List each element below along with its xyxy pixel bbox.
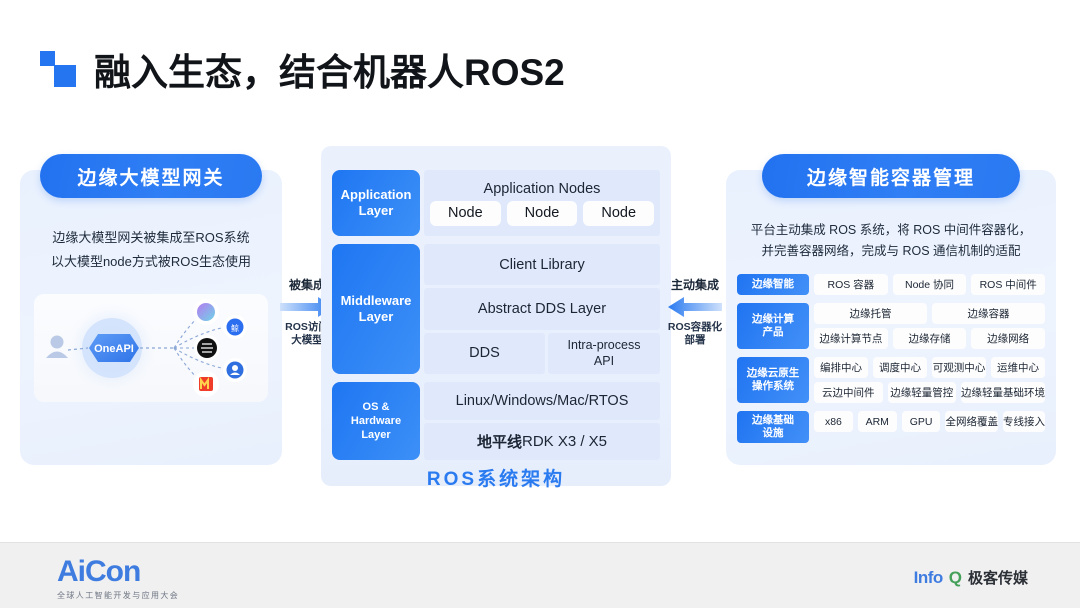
intra-process-line2: API — [594, 354, 614, 368]
application-nodes-box: Application Nodes Node Node Node — [424, 170, 660, 236]
svg-text:鲸: 鲸 — [231, 323, 239, 333]
layer-body-middleware: Client Library Abstract DDS Layer DDS In… — [424, 244, 660, 374]
capability-cell: 边缘网络 — [971, 328, 1045, 349]
capability-cell: 边缘存储 — [893, 328, 967, 349]
layer-body-application: Application Nodes Node Node Node — [424, 170, 660, 236]
middleware-row-split: DDS Intra-process API — [424, 333, 660, 374]
arrow-right-sub-line1: ROS容器化 — [664, 321, 726, 334]
middleware-row-client-library: Client Library — [424, 244, 660, 285]
capability-cell: 全网络覆盖 — [945, 411, 998, 432]
layer-group-os-hardware: OS & Hardware Layer Linux/Windows/Mac/RT… — [332, 382, 660, 460]
application-nodes-header: Application Nodes — [484, 181, 601, 197]
capability-cell: 边缘容器 — [932, 303, 1045, 324]
square-large-icon — [54, 65, 76, 87]
center-panel-ros-architecture: Application Layer Application Nodes Node… — [321, 146, 671, 486]
layer-label-middleware-line1: Middleware — [341, 293, 412, 308]
capability-cell: 边缘计算节点 — [814, 328, 888, 349]
model-logo-5-icon — [193, 371, 219, 397]
page-title: 融入生态，结合机器人ROS2 — [40, 42, 565, 96]
table-row: 边缘计算 产品 边缘托管 边缘容器 边缘计算节点 边缘存储 边缘网络 — [737, 303, 1045, 349]
capability-key-line2: 产品 — [763, 326, 784, 338]
layer-group-application: Application Layer Application Nodes Node… — [332, 170, 660, 236]
layer-label-middleware: Middleware Layer — [332, 244, 420, 374]
square-small-icon — [40, 51, 55, 66]
arrow-right-sub-line2: 部署 — [664, 334, 726, 347]
model-logo-3-icon — [194, 335, 220, 361]
left-panel: 边缘大模型网关 边缘大模型网关被集成至ROS系统 以大模型node方式被ROS生… — [20, 170, 282, 465]
capability-key-edge-compute-products: 边缘计算 产品 — [737, 303, 809, 349]
application-nodes-list: Node Node Node — [430, 201, 654, 226]
capability-cell: 可观测中心 — [932, 357, 986, 378]
table-row: 边缘基础 设施 x86 ARM GPU 全网络覆盖 专线接入 — [737, 411, 1045, 443]
model-logo-1-icon — [193, 299, 219, 325]
right-panel-description: 平台主动集成 ROS 系统，将 ROS 中间件容器化， 并完善容器网络，完成与 … — [738, 220, 1044, 262]
arrow-right-caption: 主动集成 — [664, 278, 726, 293]
oneapi-diagram: OneAPI 鲸 — [34, 294, 268, 402]
capability-line: 边缘托管 边缘容器 — [814, 303, 1045, 324]
node-chip: Node — [583, 201, 654, 226]
capability-cell: 调度中心 — [873, 357, 927, 378]
arrow-left-icon — [664, 296, 726, 318]
capability-cell: Node 协同 — [893, 274, 967, 295]
capability-cell: 专线接入 — [1003, 411, 1045, 432]
capability-cell: ROS 中间件 — [971, 274, 1045, 295]
capability-cell: 边缘轻量基础环境 — [961, 382, 1045, 403]
middleware-row-abstract-dds: Abstract DDS Layer — [424, 288, 660, 329]
infoq-info-text: Info — [914, 568, 943, 588]
capability-line: 云边中间件 边缘轻量管控 边缘轻量基础环境 — [814, 382, 1045, 403]
svg-text:OneAPI: OneAPI — [94, 343, 134, 355]
user-icon — [46, 336, 68, 359]
layer-label-os-hardware: OS & Hardware Layer — [332, 382, 420, 460]
intra-process-line1: Intra-process — [568, 338, 641, 352]
right-panel: 边缘智能容器管理 平台主动集成 ROS 系统，将 ROS 中间件容器化， 并完善… — [726, 170, 1056, 465]
oneapi-diagram-svg: OneAPI 鲸 — [34, 294, 268, 402]
infoq-q-text: Q — [949, 568, 962, 588]
capability-cell: 云边中间件 — [814, 382, 883, 403]
capability-cell: GPU — [902, 411, 941, 432]
capability-line: x86 ARM GPU 全网络覆盖 专线接入 — [814, 411, 1045, 432]
layer-label-application-line1: Application — [341, 187, 412, 202]
left-panel-description-line2: 以大模型node方式被ROS生态使用 — [34, 250, 268, 274]
footer-bar: AiCon 全球人工智能开发与应用大会 InfoQ 极客传媒 — [0, 542, 1080, 608]
layer-label-os-line3: Layer — [361, 429, 390, 441]
capability-values: ROS 容器 Node 协同 ROS 中间件 — [814, 274, 1045, 295]
arrow-actively-integrates: 主动集成 ROS容器化 部署 — [664, 278, 726, 347]
left-panel-description: 边缘大模型网关被集成至ROS系统 以大模型node方式被ROS生态使用 — [34, 226, 268, 274]
page-title-text: 融入生态，结合机器人ROS2 — [94, 42, 565, 96]
layer-label-middleware-line2: Layer — [359, 309, 394, 324]
capability-line: 编排中心 调度中心 可观测中心 运维中心 — [814, 357, 1045, 378]
model-logo-4-icon — [223, 358, 247, 382]
infoq-chinese-text: 极客传媒 — [968, 567, 1028, 588]
capability-cell: x86 — [814, 411, 853, 432]
layer-label-os-line1: OS & — [363, 401, 390, 413]
layer-label-application: Application Layer — [332, 170, 420, 236]
capability-key-edge-cloud-native-os: 边缘云原生 操作系统 — [737, 357, 809, 403]
middleware-cell-dds: DDS — [424, 333, 545, 374]
layer-body-os-hardware: Linux/Windows/Mac/RTOS 地平线 RDK X3 / X5 — [424, 382, 660, 460]
os-row-hardware-rdk: 地平线 RDK X3 / X5 — [424, 423, 660, 461]
capability-line: ROS 容器 Node 协同 ROS 中间件 — [814, 274, 1045, 295]
infoq-logo: InfoQ 极客传媒 — [914, 567, 1028, 588]
left-panel-pill-label: 边缘大模型网关 — [40, 154, 262, 198]
capability-key-edge-infrastructure: 边缘基础 设施 — [737, 411, 809, 443]
capability-key-line1: 边缘智能 — [752, 278, 794, 291]
capability-cell: 边缘托管 — [814, 303, 927, 324]
middleware-cell-intra-process-api: Intra-process API — [548, 333, 660, 374]
capability-cell: 运维中心 — [991, 357, 1045, 378]
right-panel-pill-label: 边缘智能容器管理 — [762, 154, 1020, 198]
layer-label-application-line2: Layer — [359, 203, 394, 218]
table-row: 边缘智能 ROS 容器 Node 协同 ROS 中间件 — [737, 274, 1045, 295]
slide-root: 融入生态，结合机器人ROS2 边缘大模型网关 边缘大模型网关被集成至ROS系统 … — [0, 0, 1080, 608]
right-panel-description-line2: 并完善容器网络，完成与 ROS 通信机制的适配 — [738, 241, 1044, 262]
capability-values: 编排中心 调度中心 可观测中心 运维中心 云边中间件 边缘轻量管控 边缘轻量基础… — [814, 357, 1045, 403]
os-row-operating-systems: Linux/Windows/Mac/RTOS — [424, 382, 660, 420]
aicon-ai-text: Ai — [57, 555, 85, 588]
capability-cell: ROS 容器 — [814, 274, 888, 295]
layer-group-middleware: Middleware Layer Client Library Abstract… — [332, 244, 660, 374]
left-panel-description-line1: 边缘大模型网关被集成至ROS系统 — [34, 226, 268, 250]
os-row-hardware-model: RDK X3 / X5 — [522, 433, 607, 450]
aicon-logo: AiCon 全球人工智能开发与应用大会 — [57, 555, 179, 601]
capability-key-line2: 设施 — [763, 427, 784, 439]
center-panel-caption: ROS系统架构 — [321, 464, 671, 491]
capability-key-line1: 边缘基础 — [752, 414, 794, 426]
table-row: 边缘云原生 操作系统 编排中心 调度中心 可观测中心 运维中心 云边中间件 边缘… — [737, 357, 1045, 403]
node-chip: Node — [430, 201, 501, 226]
capability-key-line1: 边缘云原生 — [747, 367, 800, 379]
layer-label-os-line2: Hardware — [351, 415, 401, 427]
aicon-wordmark: AiCon — [57, 555, 179, 589]
title-square-mark-icon — [40, 49, 76, 89]
aicon-con-text: Con — [85, 555, 140, 588]
capability-cell: ARM — [858, 411, 897, 432]
capability-cell: 编排中心 — [814, 357, 868, 378]
right-panel-description-line1: 平台主动集成 ROS 系统，将 ROS 中间件容器化， — [738, 220, 1044, 241]
os-row-hardware-brand: 地平线 — [477, 431, 522, 452]
node-chip: Node — [507, 201, 578, 226]
capability-line: 边缘计算节点 边缘存储 边缘网络 — [814, 328, 1045, 349]
capability-table: 边缘智能 ROS 容器 Node 协同 ROS 中间件 边缘计算 产品 — [737, 274, 1045, 443]
capability-key-edge-intelligence: 边缘智能 — [737, 274, 809, 295]
capability-key-line2: 操作系统 — [752, 380, 794, 392]
model-logo-2-icon: 鲸 — [223, 315, 247, 339]
oneapi-hexagon: OneAPI — [89, 334, 139, 362]
capability-values: x86 ARM GPU 全网络覆盖 专线接入 — [814, 411, 1045, 443]
capability-key-line1: 边缘计算 — [752, 313, 794, 325]
aicon-tagline: 全球人工智能开发与应用大会 — [57, 590, 179, 601]
capability-values: 边缘托管 边缘容器 边缘计算节点 边缘存储 边缘网络 — [814, 303, 1045, 349]
capability-cell: 边缘轻量管控 — [888, 382, 957, 403]
